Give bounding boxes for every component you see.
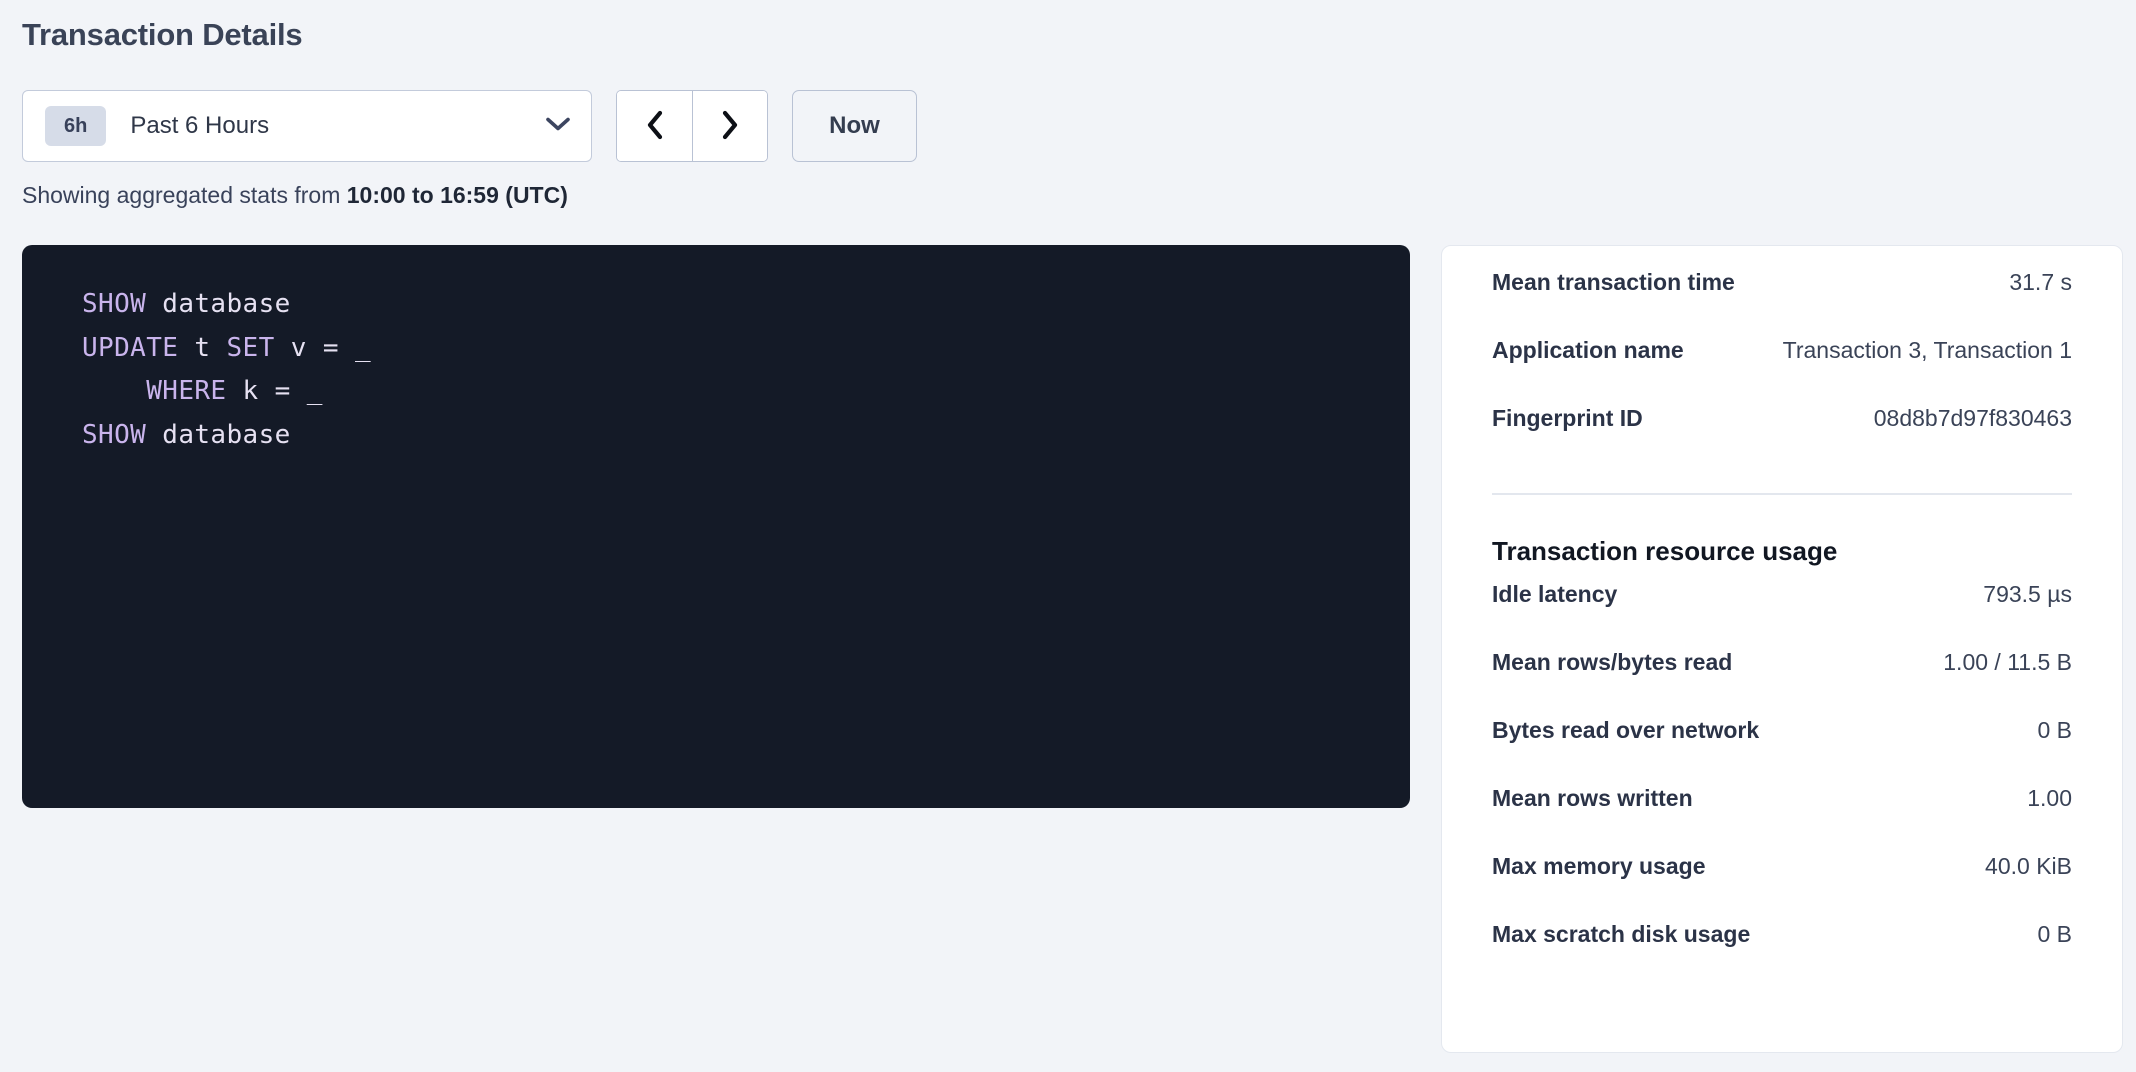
resource-stat-row: Max scratch disk usage0 B xyxy=(1492,921,2072,989)
sql-keyword: SHOW xyxy=(82,289,146,319)
card-divider xyxy=(1492,493,2072,495)
transaction-details-page: Transaction Details 6h Past 6 Hours xyxy=(0,0,2136,1072)
chevron-left-icon xyxy=(642,108,668,145)
transaction-detail-card: Mean transaction time31.7 sApplication n… xyxy=(1441,245,2123,1053)
range-caption-value: 10:00 to 16:59 (UTC) xyxy=(347,182,568,208)
primary-stat-row: Application nameTransaction 3, Transacti… xyxy=(1492,337,2072,405)
time-range-select[interactable]: 6h Past 6 Hours xyxy=(22,90,592,162)
stat-label: Application name xyxy=(1492,337,1684,364)
stat-label: Mean transaction time xyxy=(1492,269,1735,296)
stat-label: Mean rows written xyxy=(1492,785,1693,812)
stat-value: 1.00 xyxy=(2027,785,2072,812)
stat-value: 31.7 s xyxy=(2009,269,2072,296)
sql-keyword: SET xyxy=(227,333,275,363)
stat-label: Max memory usage xyxy=(1492,853,1705,880)
range-caption: Showing aggregated stats from 10:00 to 1… xyxy=(22,180,568,210)
resource-stat-row: Max memory usage40.0 KiB xyxy=(1492,853,2072,921)
stat-value: Transaction 3, Transaction 1 xyxy=(1783,337,2072,364)
next-period-button[interactable] xyxy=(692,91,767,161)
range-caption-prefix: Showing aggregated stats from xyxy=(22,182,347,208)
primary-stat-row: Mean transaction time31.7 s xyxy=(1492,269,2072,337)
sql-keyword: SHOW xyxy=(82,420,146,450)
stat-value: 0 B xyxy=(2037,921,2072,948)
sql-statement-text: SHOW database UPDATE t SET v = _ WHERE k… xyxy=(82,283,1410,457)
sql-token: database xyxy=(146,420,290,450)
page-title: Transaction Details xyxy=(22,16,302,54)
stat-label: Mean rows/bytes read xyxy=(1492,649,1732,676)
resource-usage-heading: Transaction resource usage xyxy=(1492,536,2072,567)
chevron-down-icon[interactable] xyxy=(545,116,571,137)
stat-label: Max scratch disk usage xyxy=(1492,921,1750,948)
time-range-label: Past 6 Hours xyxy=(130,112,545,140)
stat-value: 1.00 / 11.5 B xyxy=(1943,649,2072,676)
sql-keyword: UPDATE xyxy=(82,333,178,363)
sql-statement-panel: SHOW database UPDATE t SET v = _ WHERE k… xyxy=(22,245,1410,808)
stat-value: 0 B xyxy=(2037,717,2072,744)
now-button[interactable]: Now xyxy=(792,90,917,162)
stat-value: 40.0 KiB xyxy=(1985,853,2072,880)
time-range-toolbar: 6h Past 6 Hours xyxy=(22,90,917,162)
sql-token: k = _ xyxy=(226,376,322,406)
sql-token: t xyxy=(178,333,226,363)
stat-label: Idle latency xyxy=(1492,581,1617,608)
stat-label: Bytes read over network xyxy=(1492,717,1759,744)
sql-keyword: WHERE xyxy=(82,376,226,406)
sql-token: v = _ xyxy=(275,333,371,363)
resource-stat-row: Mean rows written1.00 xyxy=(1492,785,2072,853)
chevron-right-icon xyxy=(717,108,743,145)
stat-value: 793.5 µs xyxy=(1983,581,2072,608)
stat-label: Fingerprint ID xyxy=(1492,405,1643,432)
resource-stat-row: Bytes read over network0 B xyxy=(1492,717,2072,785)
time-range-badge: 6h xyxy=(45,106,106,146)
time-step-button-group xyxy=(616,90,768,162)
primary-stats-list: Mean transaction time31.7 sApplication n… xyxy=(1492,246,2072,473)
primary-stat-row: Fingerprint ID08d8b7d97f830463 xyxy=(1492,405,2072,473)
sql-token: database xyxy=(146,289,290,319)
stat-value: 08d8b7d97f830463 xyxy=(1874,405,2072,432)
resource-stats-list: Idle latency793.5 µsMean rows/bytes read… xyxy=(1492,581,2072,989)
resource-stat-row: Idle latency793.5 µs xyxy=(1492,581,2072,649)
resource-stat-row: Mean rows/bytes read1.00 / 11.5 B xyxy=(1492,649,2072,717)
previous-period-button[interactable] xyxy=(617,91,692,161)
